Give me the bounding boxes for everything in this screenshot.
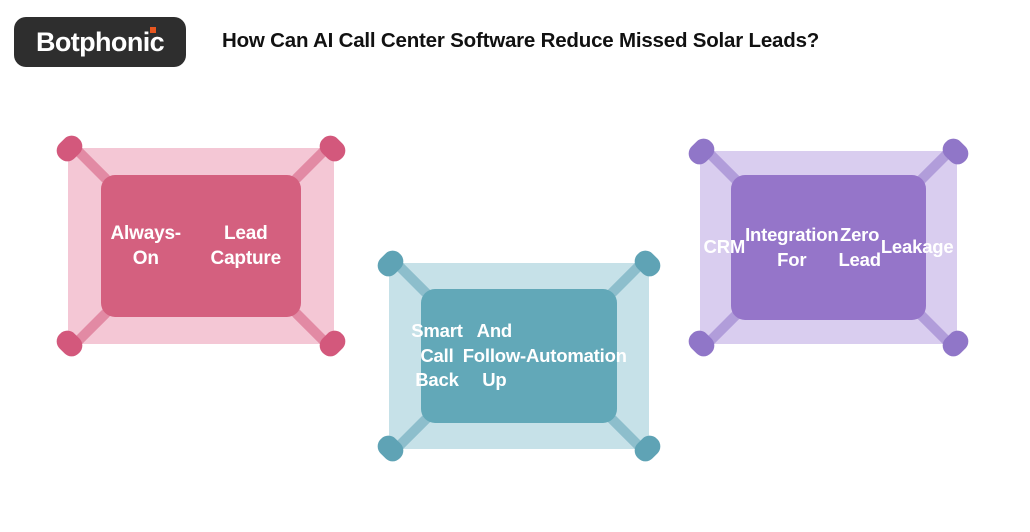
card-smart-call-back-automation[interactable]: Smart Call BackAnd Follow-UpAutomation [389,263,649,449]
card-label: Smart Call BackAnd Follow-UpAutomation [421,289,617,423]
card-crm-integration-zero-lead-leakage[interactable]: CRMIntegration ForZero LeadLeakage [700,151,957,344]
logo-label: Botphonic [36,27,164,57]
page-title: How Can AI Call Center Software Reduce M… [222,29,819,53]
logo-wordmark: Botphonic [36,29,164,56]
header: Botphonic How Can AI Call Center Softwar… [0,0,1030,90]
orange-square-dot-icon [150,27,156,33]
card-label: CRMIntegration ForZero LeadLeakage [731,175,926,320]
botphonic-logo[interactable]: Botphonic [14,17,186,67]
card-always-on-lead-capture[interactable]: Always-OnLead Capture [68,148,334,344]
card-label: Always-OnLead Capture [101,175,301,317]
